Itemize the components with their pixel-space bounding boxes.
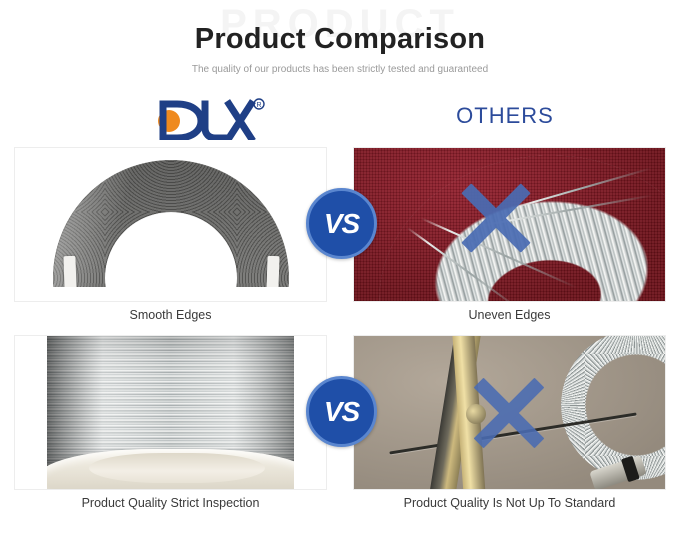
wire-coil-shading — [53, 160, 289, 302]
cable-tie — [63, 256, 76, 290]
good-product-caption: Product Quality Strict Inspection — [14, 493, 327, 513]
bad-product-caption: Uneven Edges — [353, 305, 666, 325]
svg-text:R: R — [256, 102, 261, 109]
vs-label: VS — [324, 398, 359, 426]
spool-hub — [89, 453, 265, 483]
dux-brand-logo: R — [147, 96, 267, 140]
good-product-caption: Smooth Edges — [14, 305, 327, 325]
good-product-panel — [14, 335, 327, 490]
smooth-steel-wire-coil-photo — [15, 148, 326, 301]
vs-label: VS — [324, 210, 359, 238]
photo-left-crop — [15, 336, 47, 490]
page-subtitle: The quality of our products has been str… — [0, 63, 680, 77]
x-mark — [466, 370, 552, 456]
cable-tie — [266, 256, 279, 290]
good-product-panel — [14, 147, 327, 302]
comparison-row: VS Product Quality Strict Inspection Pro… — [0, 335, 680, 523]
tangled-uneven-wire-bundle-photo — [354, 148, 665, 301]
vs-badge: VS — [306, 188, 377, 259]
bad-product-panel — [353, 147, 666, 302]
comparison-row: VS Smooth Edges Uneven Edges — [0, 147, 680, 335]
brand-row: R OTHERS — [0, 92, 680, 147]
others-label: OTHERS — [340, 102, 670, 130]
page-title: Product Comparison — [0, 22, 680, 56]
logo-letter-u — [205, 104, 225, 138]
pliers-cutting-wire-photo — [354, 336, 665, 489]
x-mark — [454, 176, 538, 260]
neatly-wound-wire-spool-photo — [15, 336, 326, 489]
bad-product-caption: Product Quality Is Not Up To Standard — [353, 493, 666, 513]
vs-badge: VS — [306, 376, 377, 447]
logo-letter-x — [229, 104, 251, 138]
bad-product-panel — [353, 335, 666, 490]
photo-bottom-crop — [15, 287, 327, 301]
page-header: PRODUCT Product Comparison The quality o… — [0, 0, 680, 92]
wire-coil — [561, 335, 666, 480]
comparison-grid: VS Smooth Edges Uneven Edges — [0, 147, 680, 523]
